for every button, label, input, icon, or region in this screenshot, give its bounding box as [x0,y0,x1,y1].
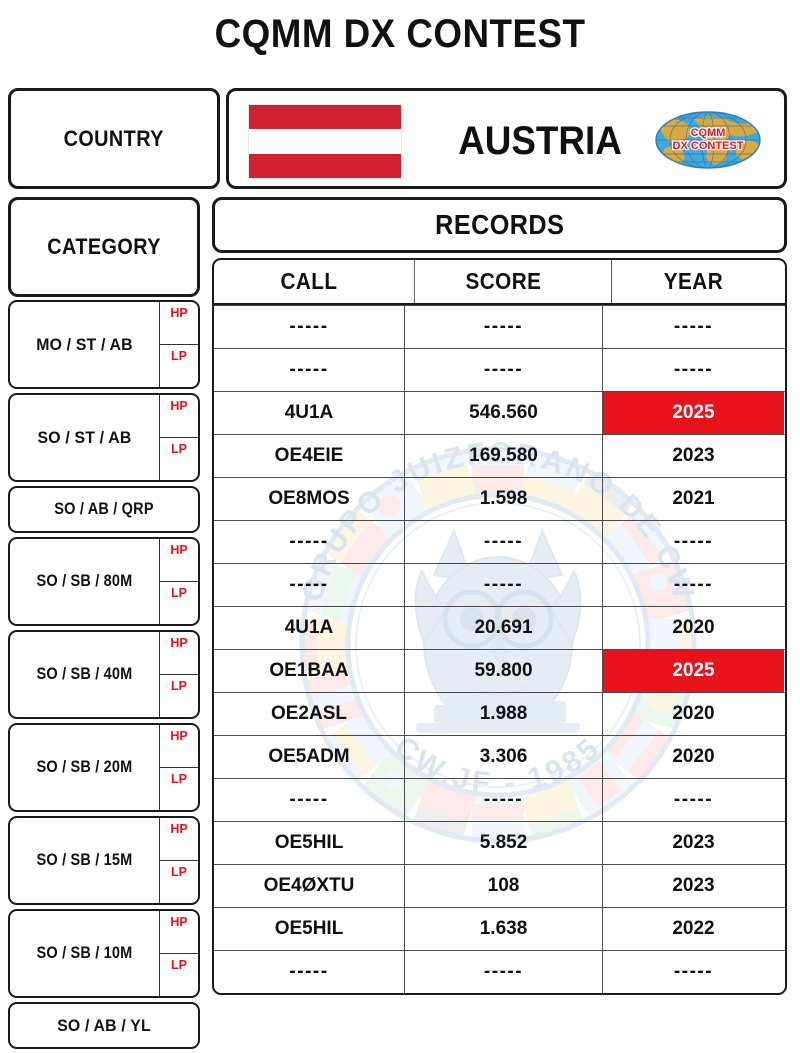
cell-score: 108 [404,865,602,907]
power-level-column: HPLP [159,539,198,624]
power-level-hp: HP [160,632,198,674]
category-label: SO / AB / YL [17,1004,192,1047]
table-row: OE8MOS1.5982021 [214,477,785,520]
cell-call: ----- [214,951,404,993]
category-block: SO / AB / QRP [8,486,200,533]
cell-year: ----- [602,564,784,606]
cqmm-dx-contest-logo-icon: CQMM DX CONTEST [650,109,766,171]
cell-call: OE1BAA [214,650,404,692]
cell-call: OE5HIL [214,908,404,950]
cell-score: 1.638 [404,908,602,950]
category-label: MO / ST / AB [15,302,154,387]
table-row: OE5HIL1.6382022 [214,907,785,950]
category-block: SO / SB / 20MHPLP [8,723,200,812]
category-header: CATEGORY [8,197,200,297]
power-level-lp: LP [160,767,198,810]
cell-year: ----- [602,306,784,348]
category-block: SO / SB / 15MHPLP [8,816,200,905]
power-level-lp: LP [160,953,198,996]
country-name: AUSTRIA [416,91,664,192]
cell-score: ----- [404,951,602,993]
power-level-column: HPLP [159,302,198,387]
cell-year: 2023 [602,822,784,864]
column-header-year: YEAR [611,260,775,303]
cell-year: 2022 [602,908,784,950]
svg-text:DX CONTEST: DX CONTEST [673,140,744,152]
cell-score: 59.800 [404,650,602,692]
cell-score: ----- [404,349,602,391]
table-row: --------------- [214,348,785,391]
category-block: SO / AB / YL [8,1002,200,1049]
category-block: SO / SB / 10MHPLP [8,909,200,998]
cell-year: ----- [602,779,784,821]
cell-year: 2023 [602,435,784,477]
country-value-cell: AUSTRIA [226,88,787,189]
category-block: SO / ST / ABHPLP [8,393,200,482]
category-label: SO / SB / 80M [19,539,150,624]
cell-score: ----- [404,564,602,606]
table-row: 4U1A546.5602025 [214,391,785,434]
flag-band-red-top [249,105,401,129]
cell-score: ----- [404,521,602,563]
table-row: OE4EIE169.5802023 [214,434,785,477]
cell-call: 4U1A [214,607,404,649]
cell-call: OE4ØXTU [214,865,404,907]
cell-year: ----- [602,521,784,563]
cell-call: OE5HIL [214,822,404,864]
cell-call: OE5ADM [214,736,404,778]
category-block: SO / SB / 40MHPLP [8,630,200,719]
svg-text:CQMM: CQMM [691,127,726,139]
records-header-label: RECORDS [435,209,564,241]
cell-score: 20.691 [404,607,602,649]
power-level-lp: LP [160,437,198,480]
cell-score: 169.580 [404,435,602,477]
category-block: MO / ST / ABHPLP [8,300,200,389]
table-row: OE5ADM3.3062020 [214,735,785,778]
power-level-lp: LP [160,860,198,903]
column-header-score: SCORE [414,260,592,303]
cell-call: ----- [214,306,404,348]
country-label: COUNTRY [64,126,164,152]
table-row: --------------- [214,305,785,348]
table-row: --------------- [214,778,785,821]
cell-call: 4U1A [214,392,404,434]
cell-score: 1.598 [404,478,602,520]
flag-band-red-bottom [249,154,401,178]
records-header: RECORDS [212,197,787,253]
power-level-column: HPLP [159,395,198,480]
table-row: OE5HIL5.8522023 [214,821,785,864]
table-row: OE4ØXTU1082023 [214,864,785,907]
power-level-column: HPLP [159,911,198,996]
cell-score: 3.306 [404,736,602,778]
cell-year: 2020 [602,607,784,649]
table-row: 4U1A20.6912020 [214,606,785,649]
table-row: OE1BAA59.8002025 [214,649,785,692]
category-label: SO / SB / 10M [19,911,150,996]
cell-call: OE8MOS [214,478,404,520]
country-label-cell: COUNTRY [8,88,220,189]
power-level-column: HPLP [159,725,198,810]
power-level-hp: HP [160,539,198,581]
table-row: --------------- [214,950,785,993]
table-row: OE2ASL1.9882020 [214,692,785,735]
category-header-label: CATEGORY [47,234,161,260]
cell-year: 2025 [602,650,784,692]
records-table: CALLSCOREYEAR---------------------------… [212,258,787,995]
power-level-column: HPLP [159,632,198,717]
cell-year: ----- [602,349,784,391]
power-level-column: HPLP [159,818,198,903]
power-level-lp: LP [160,581,198,624]
category-label: SO / ST / AB [15,395,154,480]
column-header-call: CALL [224,260,395,303]
table-row: --------------- [214,563,785,606]
cell-year: 2025 [602,392,784,434]
flag-band-white [249,129,401,153]
cell-year: 2020 [602,736,784,778]
cell-score: 5.852 [404,822,602,864]
records-column-header-row: CALLSCOREYEAR [214,260,785,305]
cell-call: OE4EIE [214,435,404,477]
category-label: SO / SB / 15M [19,818,150,903]
cell-year: 2020 [602,693,784,735]
cell-call: OE2ASL [214,693,404,735]
category-label: SO / SB / 40M [19,632,150,717]
table-row: --------------- [214,520,785,563]
cell-score: ----- [404,779,602,821]
page-title: CQMM DX CONTEST [32,12,768,57]
power-level-hp: HP [160,302,198,344]
cell-score: 546.560 [404,392,602,434]
cell-score: 1.988 [404,693,602,735]
cell-call: ----- [214,349,404,391]
austria-flag-icon [249,105,401,178]
power-level-lp: LP [160,674,198,717]
cell-year: 2021 [602,478,784,520]
cell-call: ----- [214,521,404,563]
category-column: MO / ST / ABHPLPSO / ST / ABHPLPSO / AB … [8,300,200,1053]
power-level-hp: HP [160,395,198,437]
cell-call: ----- [214,779,404,821]
power-level-hp: HP [160,818,198,860]
category-label: SO / SB / 20M [19,725,150,810]
category-label: SO / AB / QRP [21,488,186,531]
cell-year: 2023 [602,865,784,907]
cell-year: ----- [602,951,784,993]
category-block: SO / SB / 80MHPLP [8,537,200,626]
power-level-hp: HP [160,911,198,953]
cell-score: ----- [404,306,602,348]
power-level-lp: LP [160,344,198,387]
cell-call: ----- [214,564,404,606]
power-level-hp: HP [160,725,198,767]
country-header: COUNTRY AUSTRIA [8,88,787,189]
